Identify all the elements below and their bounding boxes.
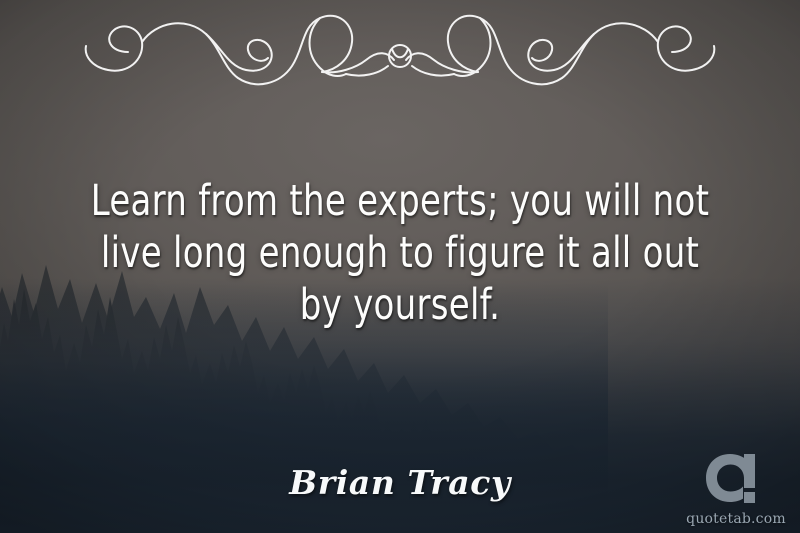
quote-image-card: Learn from the experts; you will not liv… bbox=[0, 0, 800, 533]
watermark-site-label[interactable]: quotetab.com bbox=[684, 511, 788, 527]
flourish-divider-ornament bbox=[70, 8, 730, 86]
watermark[interactable]: quotetab.com bbox=[684, 452, 788, 527]
author-name: Brian Tracy bbox=[0, 463, 800, 502]
quote-text: Learn from the experts; you will not liv… bbox=[85, 175, 715, 331]
quotetab-logo-icon[interactable] bbox=[704, 452, 768, 510]
quote-block: Learn from the experts; you will not liv… bbox=[42, 175, 758, 331]
